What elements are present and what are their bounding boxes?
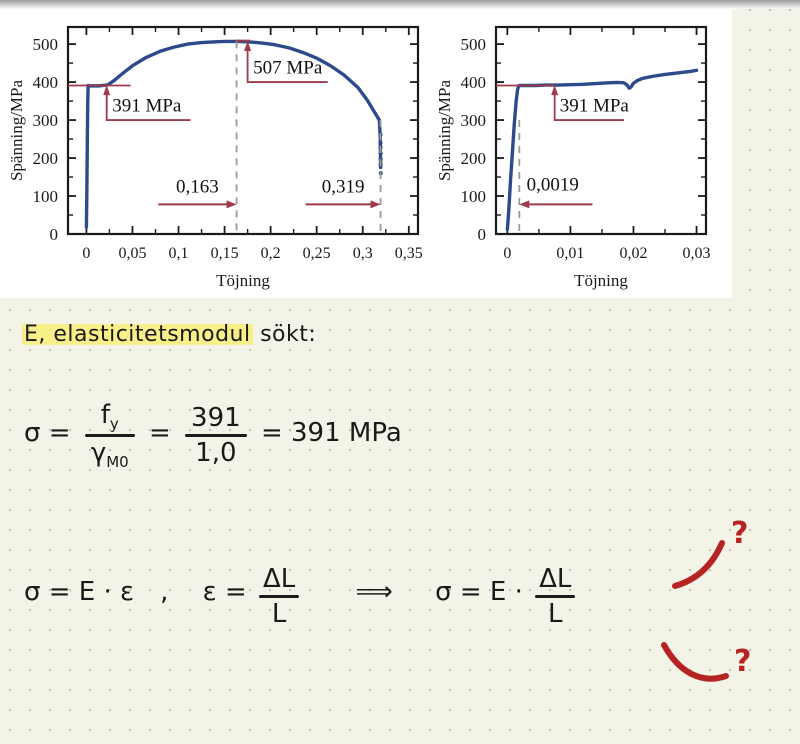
eq1-fraction-numeric: 391 1,0 [185, 403, 247, 468]
x-tick-label: 0,03 [683, 245, 711, 262]
y-tick-label: 500 [461, 35, 487, 54]
y-tick-label: 400 [461, 73, 487, 92]
x-tick-label: 0,35 [395, 245, 423, 262]
span-0163-label: 0,163 [176, 176, 219, 197]
eq1-numerator-391: 391 [185, 403, 247, 433]
span-00019-arrowhead-icon [519, 200, 529, 208]
eq1-denominator-gamma: γM0 [85, 438, 135, 471]
eq2-comma: , [160, 577, 168, 607]
eq2-fraction-strain: ΔL L [259, 564, 299, 629]
note-heading-tail: sökt [253, 322, 309, 347]
eq1-fraction-fy-gamma: fy γM0 [85, 400, 135, 471]
y-tick-label: 0 [50, 225, 59, 244]
x-tick-label: 0,05 [118, 245, 146, 262]
eq2-hooke: σ = E · ε [24, 577, 134, 607]
y-tick-label: 300 [461, 111, 487, 130]
span-0163-arrowhead-icon [227, 200, 237, 208]
note-heading-colon: : [308, 322, 316, 347]
note-heading: E, elasticitetsmodul sökt: [22, 322, 316, 347]
eq1-fraction-bar-2 [185, 434, 247, 437]
stress-strain-curve [507, 70, 696, 229]
fracture-point [378, 141, 382, 145]
y-tick-label: 100 [33, 187, 59, 206]
annotation-391: 391 MPa [112, 96, 182, 117]
y-axis-label: Spänning/MPa [435, 80, 454, 182]
x-axis-label: Töjning [216, 271, 270, 290]
eq1-equals-3: = [261, 418, 283, 448]
stress-strain-curve [86, 41, 380, 227]
eq1-numerator-sub: y [110, 415, 119, 433]
top-gradient-strip [0, 0, 800, 9]
y-tick-label: 300 [33, 111, 59, 130]
x-tick-label: 0,25 [303, 245, 331, 262]
y-tick-label: 100 [461, 187, 487, 206]
y-tick-label: 400 [33, 73, 59, 92]
chart-full-stress-strain: 00,050,10,150,20,250,30,3501002003004005… [0, 9, 440, 298]
annotation-391: 391 MPa [560, 96, 630, 117]
x-axis-label: Töjning [574, 271, 628, 290]
plot-frame [68, 27, 418, 234]
eq2-strain-numerator: ΔL [259, 564, 299, 594]
eq2-fraction-result: ΔL L [535, 564, 575, 629]
note-heading-highlight: E, elasticitetsmodul [22, 322, 253, 347]
x-tick-label: 0,2 [261, 245, 281, 262]
x-tick-label: 0,15 [211, 245, 239, 262]
x-tick-label: 0,3 [353, 245, 373, 262]
y-tick-label: 500 [33, 35, 59, 54]
x-tick-label: 0,02 [619, 245, 647, 262]
question-mark-top: ? [731, 516, 748, 551]
chart-right-svg: 00,010,020,030100200300400500TöjningSpän… [432, 9, 732, 298]
x-tick-label: 0,1 [169, 245, 189, 262]
eq1-numerator-fy: fy [85, 400, 135, 433]
eq1-denominator-sub: M0 [106, 453, 129, 471]
eq2-implies-arrow: ⟹ [356, 577, 393, 607]
span-0319-label: 0,319 [322, 176, 365, 197]
eq1-equals-2: = [149, 418, 171, 448]
x-tick-label: 0 [503, 245, 511, 262]
question-mark-bottom: ? [734, 644, 751, 679]
y-tick-label: 0 [478, 225, 487, 244]
eq2-result-lhs: σ = E · [435, 577, 523, 607]
eq2-result-denominator: L [535, 599, 575, 629]
eq2-result-numerator: ΔL [535, 564, 575, 594]
y-tick-label: 200 [461, 149, 487, 168]
eq1-sigma: σ [24, 418, 40, 448]
x-tick-label: 0,01 [556, 245, 584, 262]
eq1-fraction-bar-1 [85, 434, 135, 437]
x-tick-label: 0 [82, 245, 90, 262]
annotation-507: 507 MPa [253, 57, 323, 78]
y-axis-label: Spänning/MPa [7, 80, 26, 182]
eq2-strain-lhs: ε = [203, 577, 247, 607]
eq2-strain-denominator: L [259, 599, 299, 629]
chart-left-svg: 00,050,10,150,20,250,30,3501002003004005… [0, 9, 440, 298]
eq2-fraction-bar-1 [259, 595, 299, 598]
y-tick-label: 200 [33, 149, 59, 168]
span-0319-arrowhead-icon [371, 200, 381, 208]
equation-hookes-law: σ = E · ε, ε = ΔL L ⟹ σ = E · ΔL L [24, 560, 579, 625]
eq2-fraction-bar-2 [535, 595, 575, 598]
span-00019-label: 0,0019 [527, 174, 579, 195]
eq1-denominator-10: 1,0 [185, 438, 247, 468]
figure-panel: 00,050,10,150,20,250,30,3501002003004005… [0, 9, 732, 298]
eq1-result: 391 MPa [291, 418, 402, 448]
equation-stress-design: σ = fy γM0 = 391 1,0 = 391 MPa [24, 398, 402, 469]
chart-elastic-zoom: 00,010,020,030100200300400500TöjningSpän… [432, 9, 732, 298]
eq1-equals-1: = [49, 418, 71, 448]
